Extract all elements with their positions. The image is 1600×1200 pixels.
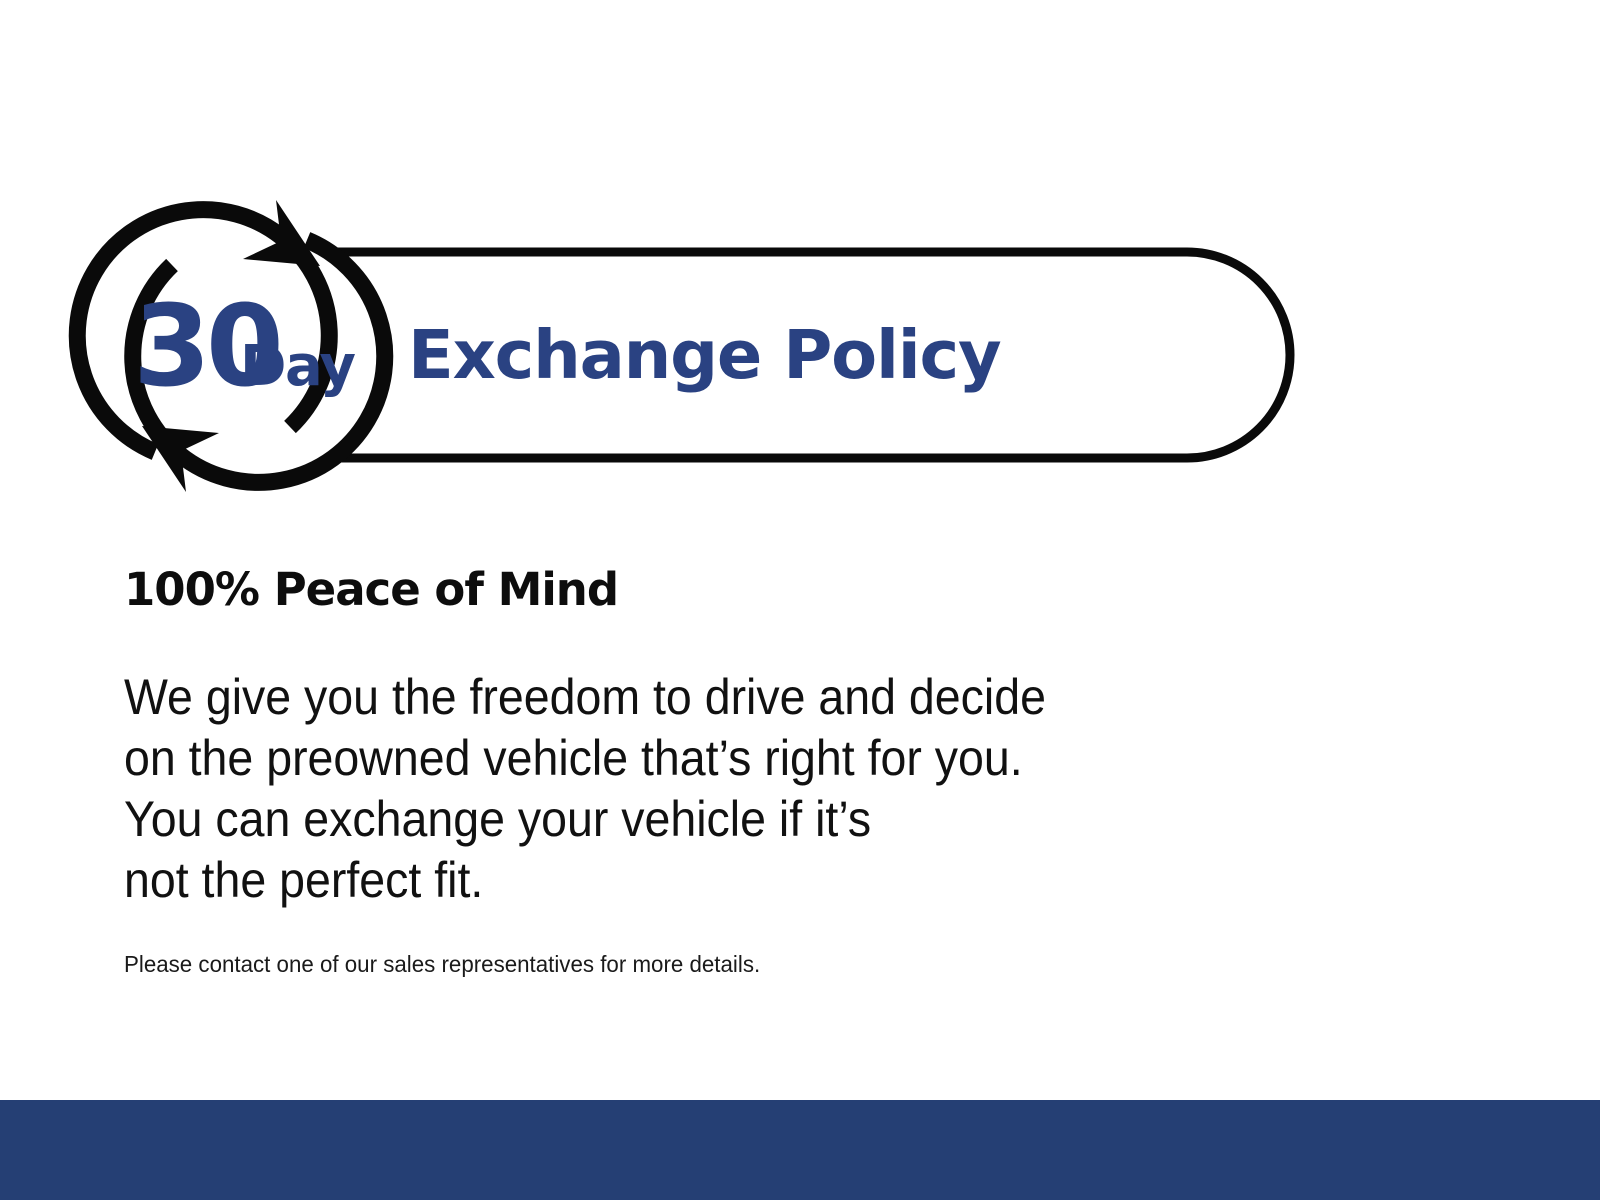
logo-number-text: 30	[133, 282, 279, 412]
refresh-arc-top	[77, 210, 329, 452]
policy-badge: 30 Day	[0, 0, 1600, 560]
body-paragraph: We give you the freedom to drive and dec…	[124, 667, 1296, 911]
page-title: Exchange Policy	[408, 303, 1228, 407]
paragraph-line: not the perfect fit.	[124, 850, 1296, 911]
refresh-arrowhead-top	[243, 200, 320, 266]
paragraph-line: We give you the freedom to drive and dec…	[124, 667, 1296, 728]
content-block: 100% Peace of Mind We give you the freed…	[124, 566, 1384, 979]
fine-print-note: Please contact one of our sales represen…	[124, 949, 1346, 979]
paragraph-line: on the preowned vehicle that’s right for…	[124, 728, 1296, 789]
refresh-arrowhead-bottom	[142, 426, 219, 492]
headline: 100% Peace of Mind	[124, 566, 1384, 615]
logo-unit-text: Day	[240, 334, 356, 399]
exchange-policy-slide: 30 Day Exchange Policy 100% Peace of Min…	[0, 0, 1600, 1200]
footer-band	[0, 1100, 1600, 1200]
paragraph-line: You can exchange your vehicle if it’s	[124, 789, 1296, 850]
refresh-arc-bottom	[133, 240, 385, 482]
